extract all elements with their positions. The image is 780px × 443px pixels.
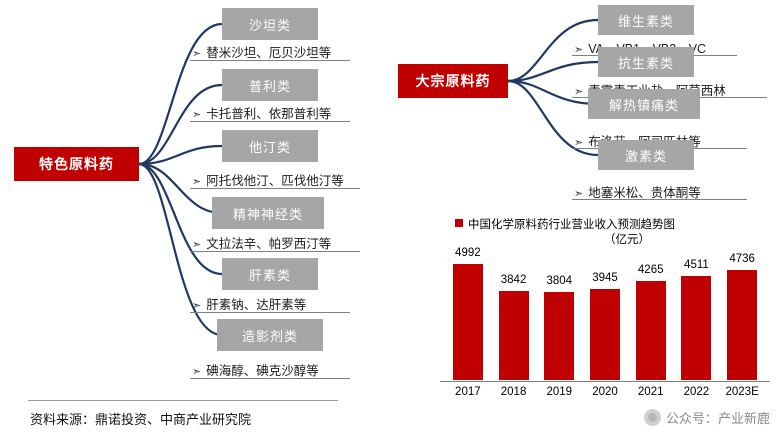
category-box-shatan: 沙坦类	[222, 8, 318, 40]
deer-logo-icon	[644, 409, 661, 426]
leaf-psych: ➣文拉法辛、帕罗西汀等	[192, 233, 331, 252]
bullet-arrow-icon: ➣	[574, 85, 583, 98]
footer-divider	[28, 400, 338, 401]
category-box-puli: 普利类	[222, 69, 318, 101]
bar-2022	[681, 276, 711, 380]
bullet-arrow-icon: ➣	[574, 187, 583, 200]
legend-swatch-icon	[455, 219, 463, 227]
bar-2023E	[727, 270, 757, 380]
category-box-contrast: 造影剂类	[217, 319, 323, 351]
bar-value-2017: 4992	[440, 247, 496, 259]
category-box-analgesic: 解热镇痛类	[588, 89, 700, 119]
leaf-puli: ➣卡托普利、依那普利等	[192, 103, 331, 122]
chart-title: 中国化学原料药行业营业收入预测趋势图	[455, 216, 675, 232]
diagram-canvas: 特色原料药 沙坦类 ➣替米沙坦、厄贝沙坦等 普利类 ➣卡托普利、依那普利等 他汀…	[0, 0, 780, 443]
category-box-tating: 他汀类	[222, 130, 318, 162]
category-box-psych: 精神神经类	[212, 197, 324, 229]
bar-2018	[499, 291, 529, 380]
bar-2017	[453, 264, 483, 380]
leaf-tating: ➣阿托伐他汀、匹伐他汀等	[192, 170, 344, 189]
bullet-arrow-icon: ➣	[192, 365, 201, 378]
leaf-hormone: ➣地塞米松、贵体酮等	[574, 182, 701, 201]
x-tick-2023E: 2023E	[714, 386, 770, 398]
category-box-vitamin: 维生素类	[598, 5, 694, 35]
bullet-arrow-icon: ➣	[574, 136, 583, 149]
bar-2021	[636, 281, 666, 380]
bar-2019	[544, 292, 574, 380]
root-node-specialty-api: 特色原料药	[14, 147, 139, 181]
watermark-text: 公众号：产业新鹿	[666, 408, 770, 427]
bar-2020	[590, 289, 620, 380]
leaf-shatan: ➣替米沙坦、厄贝沙坦等	[192, 42, 331, 61]
chart-unit-label: （亿元）	[604, 231, 650, 247]
leaf-heparin: ➣肝素钠、达肝素等	[192, 294, 306, 313]
bullet-arrow-icon: ➣	[192, 175, 201, 188]
bullet-arrow-icon: ➣	[192, 299, 201, 312]
bullet-arrow-icon: ➣	[192, 108, 201, 121]
bar-value-2023E: 4736	[714, 253, 770, 265]
source-note: 资料来源：鼎诺投资、中商产业研究院	[30, 409, 251, 428]
root-node-bulk-api: 大宗原料药	[398, 64, 508, 98]
category-box-heparin: 肝素类	[222, 258, 318, 290]
watermark: 公众号：产业新鹿	[644, 408, 770, 427]
bullet-arrow-icon: ➣	[192, 238, 201, 251]
category-box-hormone: 激素类	[598, 140, 694, 170]
bullet-arrow-icon: ➣	[574, 43, 583, 56]
leaf-contrast: ➣碘海醇、碘克沙醇等	[192, 360, 319, 379]
category-box-antibiotic: 抗生素类	[598, 47, 694, 77]
bullet-arrow-icon: ➣	[192, 47, 201, 60]
chart-x-axis	[440, 381, 770, 382]
